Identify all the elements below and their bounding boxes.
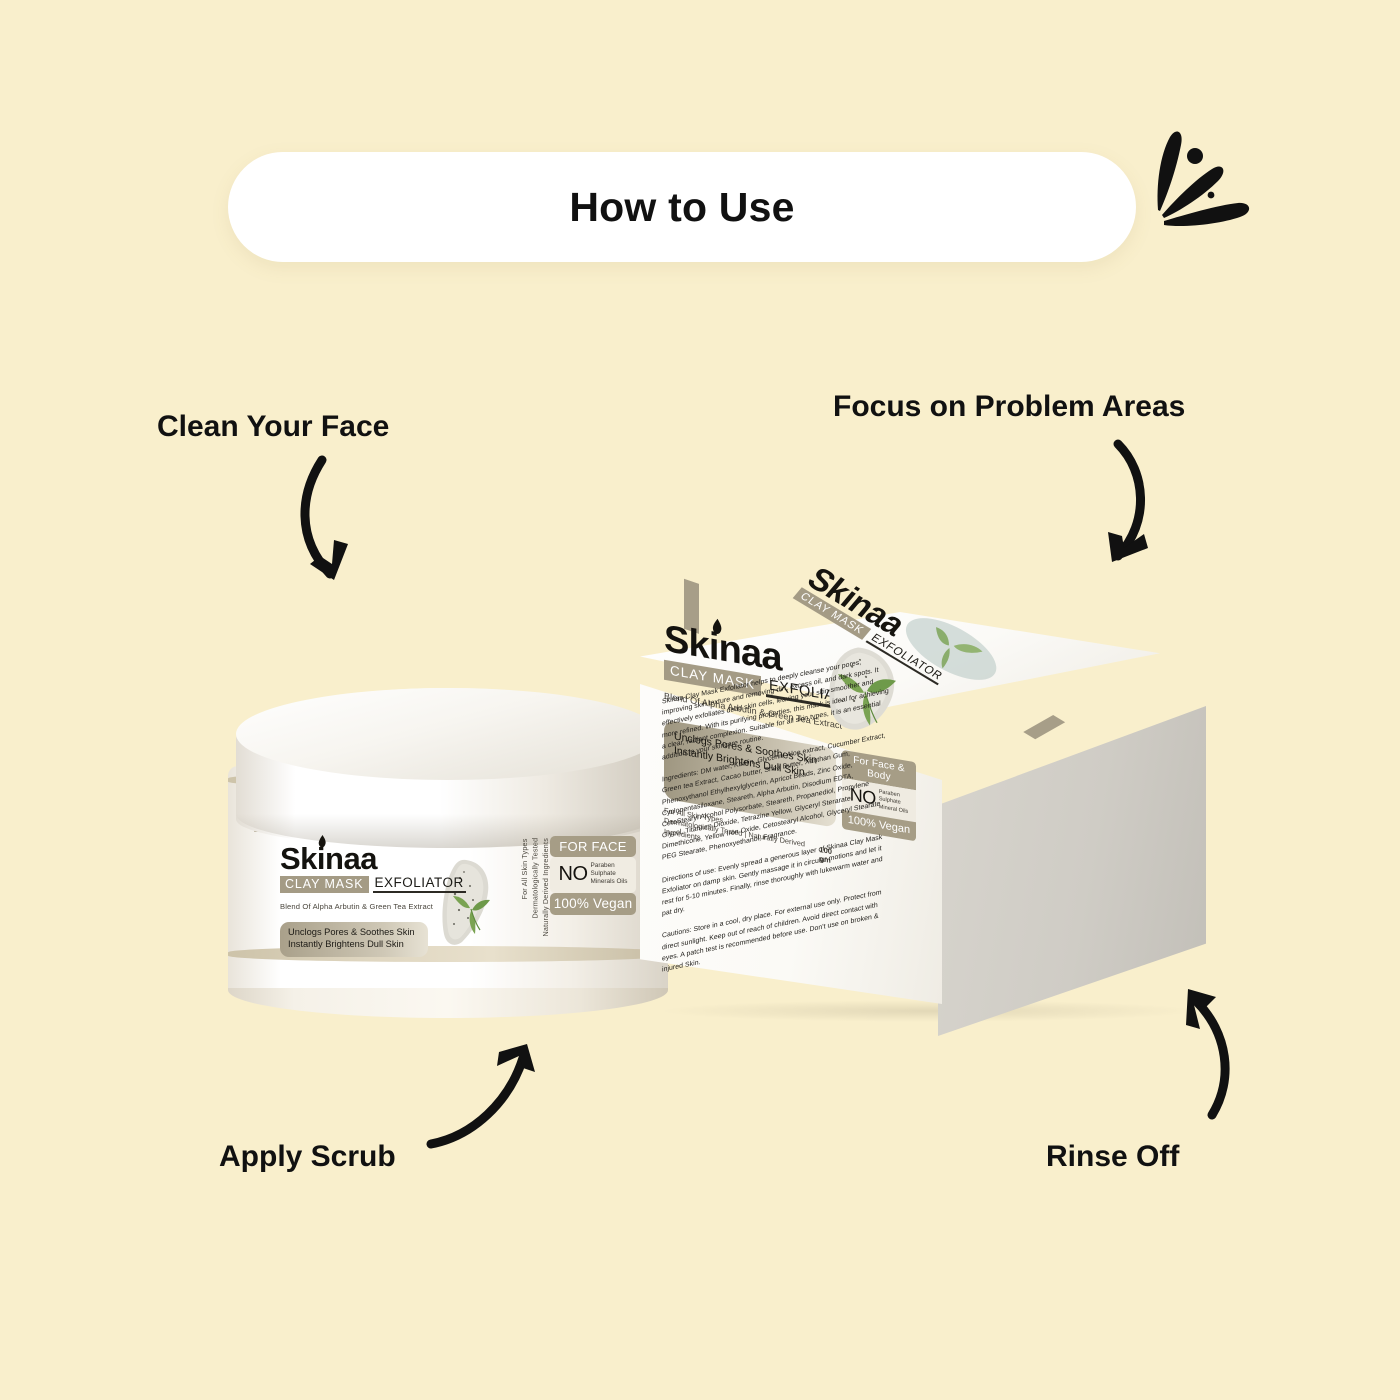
jar-badge-free-from: NO Paraben Sulphate Minerals Oils bbox=[550, 857, 636, 893]
product-box: Skinaa CLAY MASK EXFOLIATOR bbox=[640, 612, 1260, 1032]
jar-blend-text: Blend Of Alpha Arbutin & Green Tea Extra… bbox=[280, 902, 480, 911]
jar-side-line-1: For All Skin Types bbox=[520, 838, 530, 936]
step-label-rinse-off: Rinse Off bbox=[1046, 1140, 1179, 1174]
product-jar: Skinaa CLAY MASK EXFOLIATOR Blend Of Alp… bbox=[228, 688, 668, 1018]
header-pill: How to Use bbox=[228, 152, 1136, 262]
curved-arrow-up-right-icon bbox=[423, 1026, 568, 1151]
jar-brand-name: Skinaa bbox=[280, 844, 480, 873]
jar-free-from-3: Minerals Oils bbox=[591, 878, 628, 885]
step-label-apply-scrub: Apply Scrub bbox=[219, 1140, 396, 1174]
jar-badge-no-list: Paraben Sulphate Minerals Oils bbox=[591, 862, 628, 887]
jar-category-primary: CLAY MASK bbox=[280, 876, 369, 893]
step-label-focus-on-problem-areas: Focus on Problem Areas bbox=[833, 390, 1185, 424]
box-side-content: Skinaa Clay Mask Exfoliator helps to dee… bbox=[662, 651, 890, 975]
jar-badge-group: FOR FACE NO Paraben Sulphate Minerals Oi… bbox=[550, 836, 636, 915]
jar-badge-no-word: NO bbox=[559, 863, 588, 886]
poster-canvas: How to Use Clean Your Face Focus on Prob… bbox=[0, 0, 1400, 1400]
leaf-icon bbox=[712, 618, 723, 636]
jar-badge-vegan: 100% Vegan bbox=[550, 893, 636, 915]
jar-side-text: For All Skin Types Dermatologically Test… bbox=[520, 838, 551, 936]
curved-arrow-down-left-icon bbox=[1068, 438, 1200, 586]
curved-arrow-down-right-icon bbox=[278, 452, 408, 602]
box-ground-shadow bbox=[658, 1000, 1198, 1022]
jar-free-from-2: Sulphate bbox=[591, 870, 616, 877]
step-label-clean-your-face: Clean Your Face bbox=[157, 410, 389, 444]
leaf-icon bbox=[318, 835, 327, 848]
jar-claim-line-2: Instantly Brightens Dull Skin bbox=[288, 939, 420, 951]
jar-lid-surface bbox=[236, 688, 660, 780]
page-title: How to Use bbox=[569, 184, 794, 231]
jar-badge-usage: FOR FACE bbox=[550, 836, 636, 857]
jar-claim-block: Unclogs Pores & Soothes Skin Instantly B… bbox=[280, 922, 428, 956]
jar-free-from-1: Paraben bbox=[591, 862, 615, 869]
jar-category-line: CLAY MASK EXFOLIATOR bbox=[280, 875, 480, 893]
jar-label-content: Skinaa CLAY MASK EXFOLIATOR Blend Of Alp… bbox=[280, 844, 480, 957]
splash-burst-icon bbox=[1118, 115, 1268, 240]
jar-side-line-2: Dermatologically Tested bbox=[530, 838, 540, 936]
jar-claim-line-1: Unclogs Pores & Soothes Skin bbox=[288, 927, 420, 939]
jar-category-secondary: EXFOLIATOR bbox=[373, 875, 466, 893]
